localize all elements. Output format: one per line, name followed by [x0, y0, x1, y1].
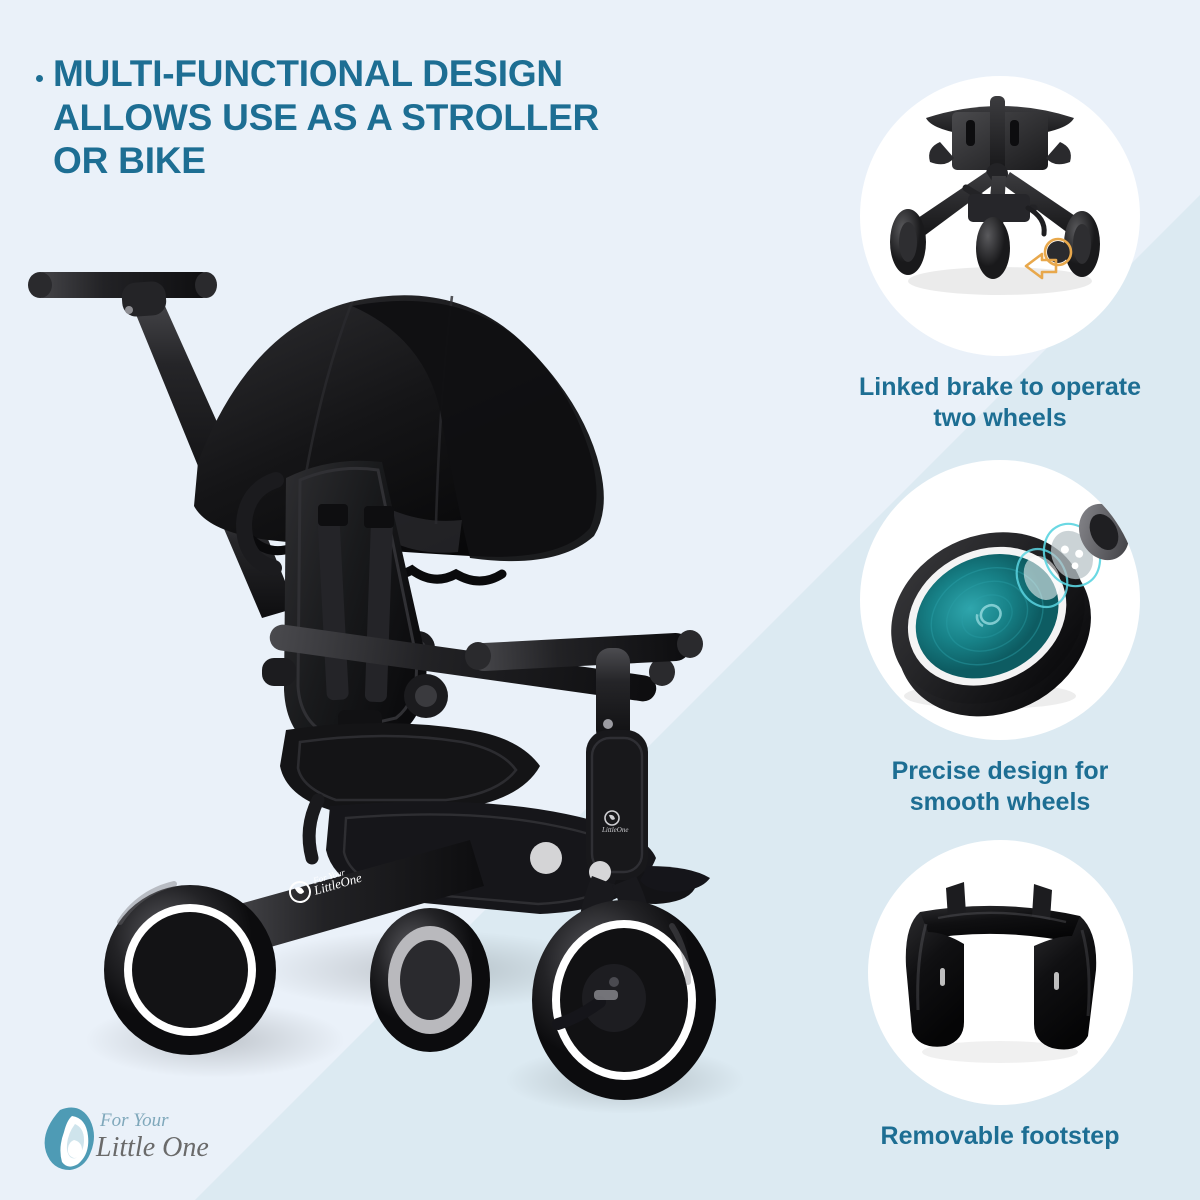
svg-text:LittleOne: LittleOne — [601, 826, 628, 834]
for-your-little-one-logo: For Your Little One — [34, 1098, 244, 1180]
feature-removable-footstep: Removable footstep — [845, 840, 1155, 1152]
mother-and-child-icon — [45, 1108, 94, 1170]
feature-caption-removable-footstep: Removable footstep — [845, 1121, 1155, 1152]
feature-image-circle-footstep — [868, 840, 1133, 1105]
removable-footstep-illustration — [868, 840, 1133, 1105]
teal-wheel-exploded-bearing-illustration — [860, 460, 1140, 740]
folding-trike-stroller-illustration: For Your LittleOne — [0, 210, 790, 1140]
front-wheel — [532, 900, 716, 1100]
logo-line-2: Little One — [95, 1132, 209, 1163]
feature-image-circle-wheel — [860, 460, 1140, 740]
feature-image-circle-brake — [860, 76, 1140, 356]
bullet-point-icon — [36, 75, 43, 82]
feature-linked-brake: Linked brake to operate two wheels — [845, 76, 1155, 433]
feature-precise-wheels: Precise design for smooth wheels — [845, 460, 1155, 817]
folded-frame-rear-axle-illustration — [860, 76, 1140, 356]
feature-caption-linked-brake: Linked brake to operate two wheels — [845, 372, 1155, 433]
rear-wheel-left — [104, 884, 276, 1055]
rear-wheel-right — [370, 908, 490, 1052]
page-title: MULTI-FUNCTIONAL DESIGN ALLOWS USE AS A … — [53, 52, 656, 183]
brand-logo: For Your Little One — [34, 1098, 244, 1180]
logo-line-1: For Your — [99, 1110, 169, 1131]
headline-block: MULTI-FUNCTIONAL DESIGN ALLOWS USE AS A … — [36, 52, 656, 183]
feature-caption-precise-wheels: Precise design for smooth wheels — [845, 756, 1155, 817]
product-hero-image: For Your LittleOne — [0, 210, 790, 1140]
